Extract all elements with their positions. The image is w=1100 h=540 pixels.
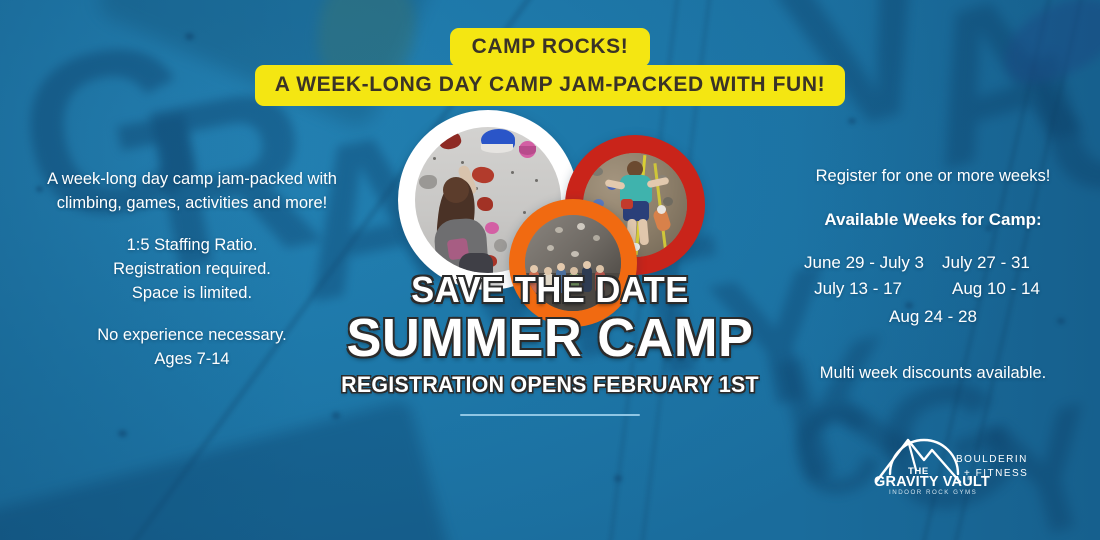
logo-bouldering-text: BOULDERING: [956, 454, 1028, 465]
registration-opens-text: REGISTRATION OPENS FEBRUARY 1ST: [17, 374, 1084, 396]
logo-tagline-text: INDOOR ROCK GYMS: [889, 489, 977, 496]
camp-intro-line-2: climbing, games, activities and more!: [8, 192, 376, 216]
logo-fitness-text: + FITNESS: [964, 468, 1028, 479]
camp-intro-line-1: A week-long day camp jam-packed with: [8, 168, 376, 192]
available-weeks-heading: Available Weeks for Camp:: [768, 210, 1098, 230]
banner-headline-secondary: A WEEK-LONG DAY CAMP JAM-PACKED WITH FUN…: [255, 65, 845, 106]
camp-detail-staffing: 1:5 Staffing Ratio.: [8, 234, 376, 258]
summer-camp-title: SUMMER CAMP: [17, 310, 1084, 367]
save-the-date-text: SAVE THE DATE: [22, 272, 1078, 308]
summer-camp-poster: G R A V I T Y V A U C K G Y: [0, 0, 1100, 540]
register-lead-text: Register for one or more weeks!: [768, 165, 1098, 188]
gravity-vault-logo: THE GRAVITY VAULT ® INDOOR ROCK GYMS BOU…: [868, 412, 1028, 498]
top-banner: CAMP ROCKS! A WEEK-LONG DAY CAMP JAM-PAC…: [0, 28, 1100, 106]
main-headline-block: SAVE THE DATE SUMMER CAMP REGISTRATION O…: [0, 272, 1100, 416]
banner-headline-primary: CAMP ROCKS!: [450, 28, 651, 67]
headline-divider: [460, 414, 640, 416]
